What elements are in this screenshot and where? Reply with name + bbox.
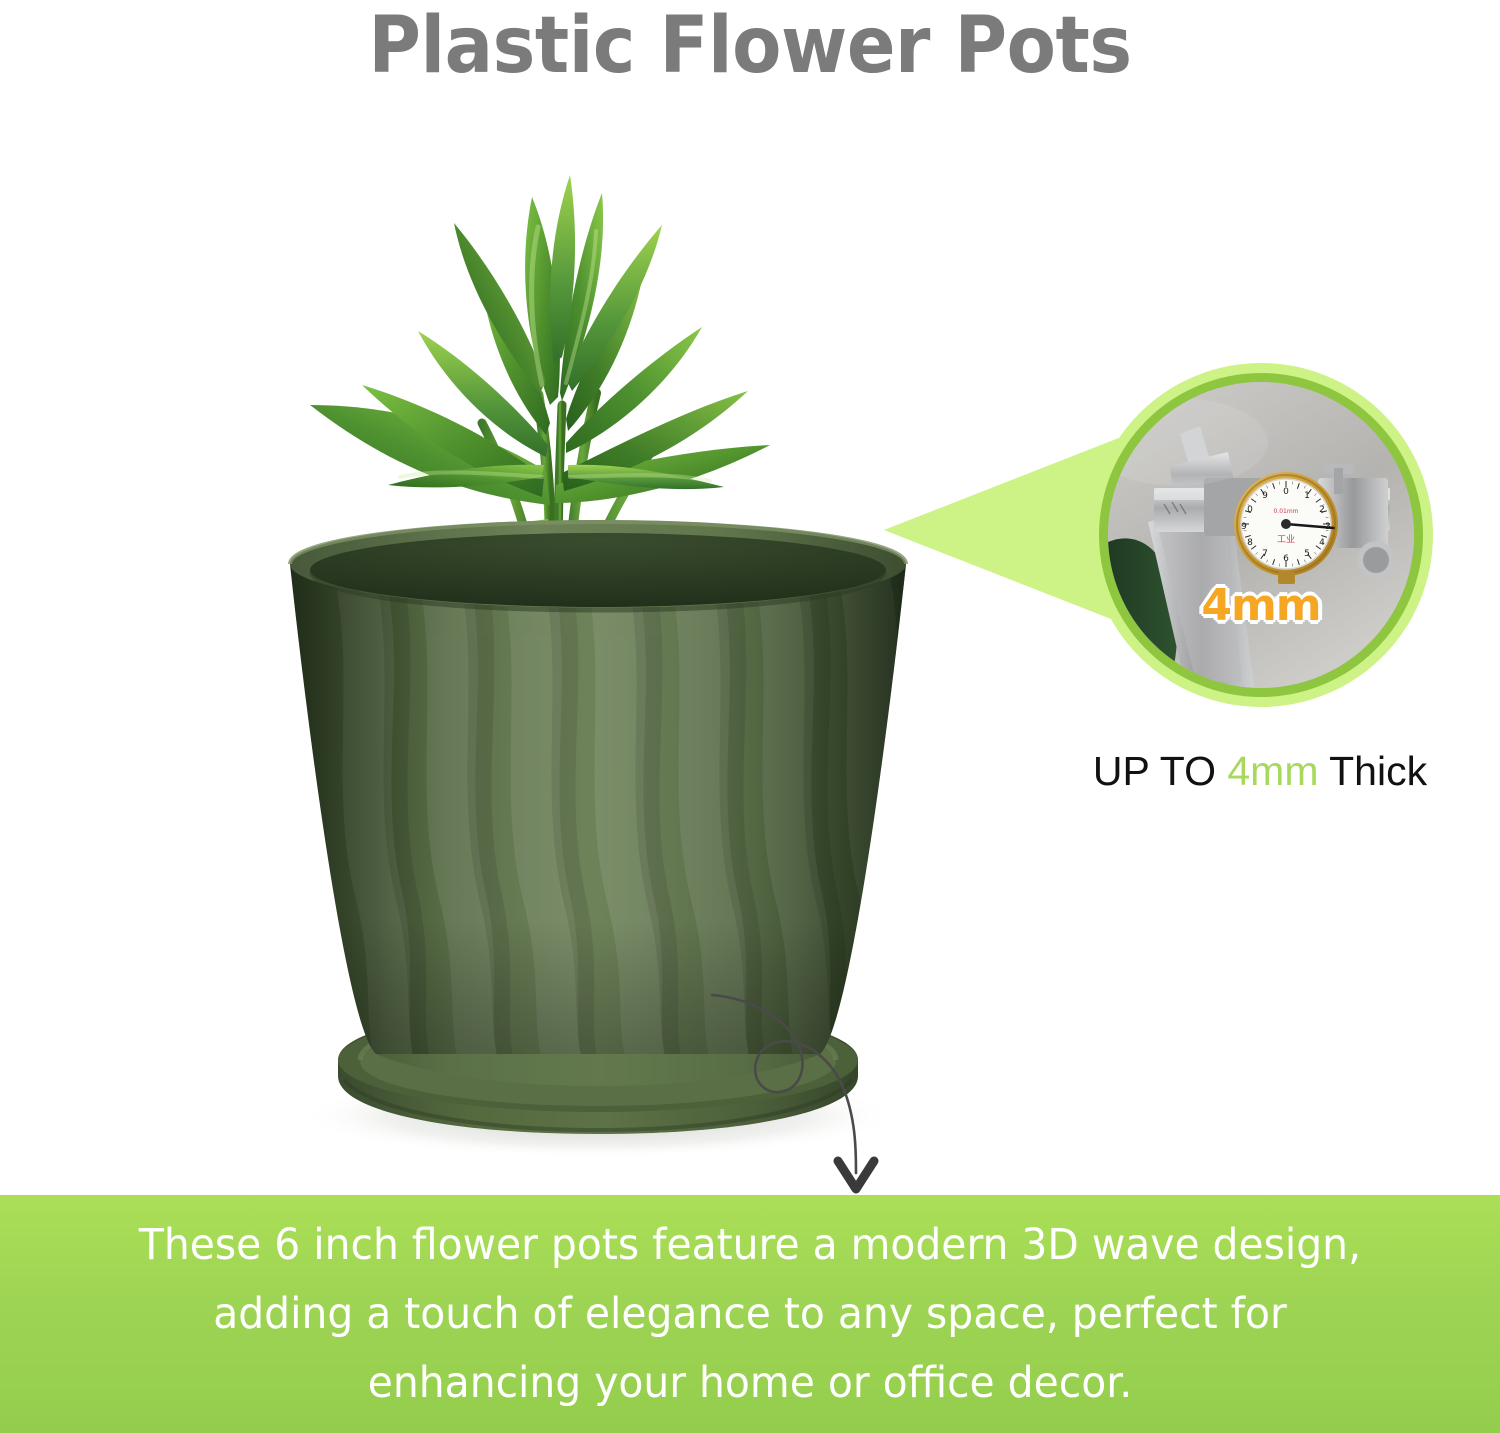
description-text: These 6 inch flower pots feature a moder…: [118, 1211, 1382, 1418]
page-title: Plastic Flower Pots: [60, 0, 1440, 92]
svg-text:0: 0: [1247, 505, 1253, 515]
svg-text:1: 1: [1304, 491, 1310, 501]
description-banner: These 6 inch flower pots feature a moder…: [0, 1195, 1500, 1433]
plant-image: [250, 105, 870, 585]
thickness-caption: UP TO 4mm Thick: [1030, 748, 1490, 795]
curved-loop-arrow-down-icon: [660, 975, 910, 1210]
plant-leaves-upper: [454, 175, 662, 405]
svg-text:0.01mm: 0.01mm: [1273, 508, 1298, 515]
svg-text:9: 9: [1262, 491, 1268, 501]
pot-rim: [290, 520, 906, 610]
svg-text:8: 8: [1247, 538, 1253, 548]
thickness-caption-highlight: 4mm: [1227, 748, 1318, 794]
caliper-photo: 0 1 2 3 4 5 6 7 8 9 0 9 0.01mm 工业: [1108, 382, 1414, 688]
svg-text:2: 2: [1319, 505, 1325, 515]
svg-text:6: 6: [1283, 554, 1289, 564]
thickness-caption-suffix: Thick: [1318, 748, 1427, 794]
thickness-magnifier-circle: 0 1 2 3 4 5 6 7 8 9 0 9 0.01mm 工业: [1108, 382, 1414, 688]
svg-text:0: 0: [1283, 487, 1289, 497]
svg-text:工业: 工业: [1277, 534, 1295, 545]
svg-text:7: 7: [1262, 549, 1268, 559]
svg-text:4: 4: [1319, 538, 1325, 548]
thickness-value-label: 4mm: [1108, 580, 1414, 631]
svg-text:9: 9: [1241, 522, 1247, 532]
thickness-caption-prefix: UP TO: [1093, 748, 1227, 794]
svg-text:5: 5: [1304, 549, 1310, 559]
